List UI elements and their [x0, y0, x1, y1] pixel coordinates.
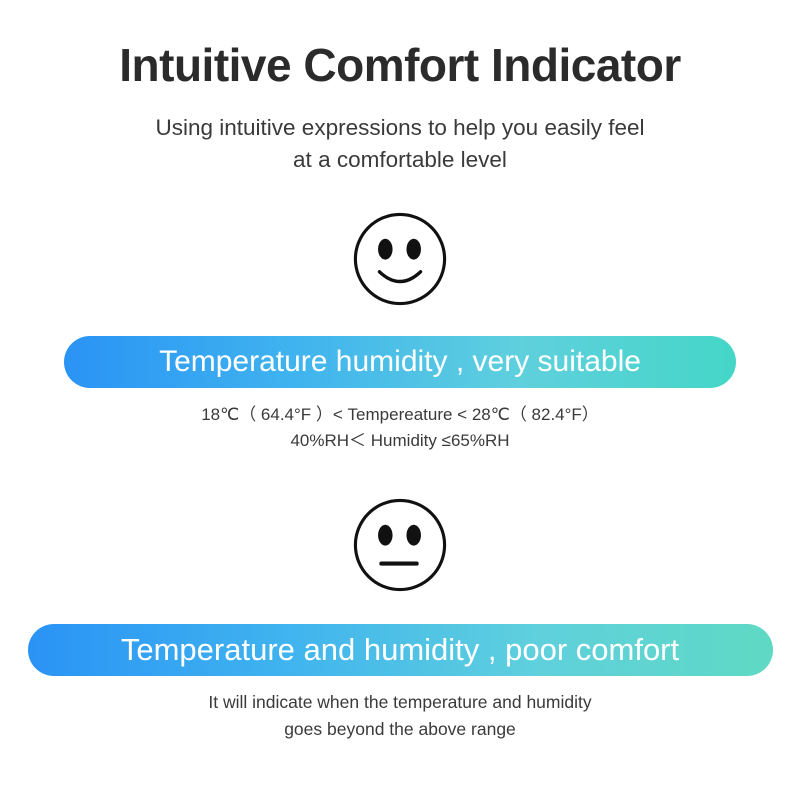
page-subtitle-line-2: at a comfortable level: [155, 144, 644, 176]
comfort-indicator-infographic: Intuitive Comfort Indicator Using intuit…: [0, 0, 800, 800]
happy-face-icon: [351, 210, 449, 308]
comfort-status-banner: Temperature humidity , very suitable: [64, 336, 736, 388]
temperature-range-text: 18℃（ 64.4°F ）< Tempereature < 28℃（ 82.4°…: [201, 402, 599, 428]
discomfort-note-line-2: goes beyond the above range: [208, 716, 591, 742]
discomfort-note: It will indicate when the temperature an…: [208, 676, 591, 742]
page-subtitle: Using intuitive expressions to help you …: [155, 91, 644, 176]
discomfort-status-banner: Temperature and humidity , poor comfort: [28, 624, 773, 676]
happy-face-container: [351, 175, 449, 308]
page-title: Intuitive Comfort Indicator: [119, 0, 681, 91]
discomfort-note-line-1: It will indicate when the temperature an…: [208, 689, 591, 715]
neutral-face-icon: [351, 496, 449, 594]
comfort-range-specs: 18℃（ 64.4°F ）< Tempereature < 28℃（ 82.4°…: [201, 388, 599, 453]
page-subtitle-line-1: Using intuitive expressions to help you …: [155, 112, 644, 144]
humidity-range-text: 40%RH＜ Humidity ≤65%RH: [201, 428, 599, 454]
neutral-face-container: [351, 453, 449, 594]
